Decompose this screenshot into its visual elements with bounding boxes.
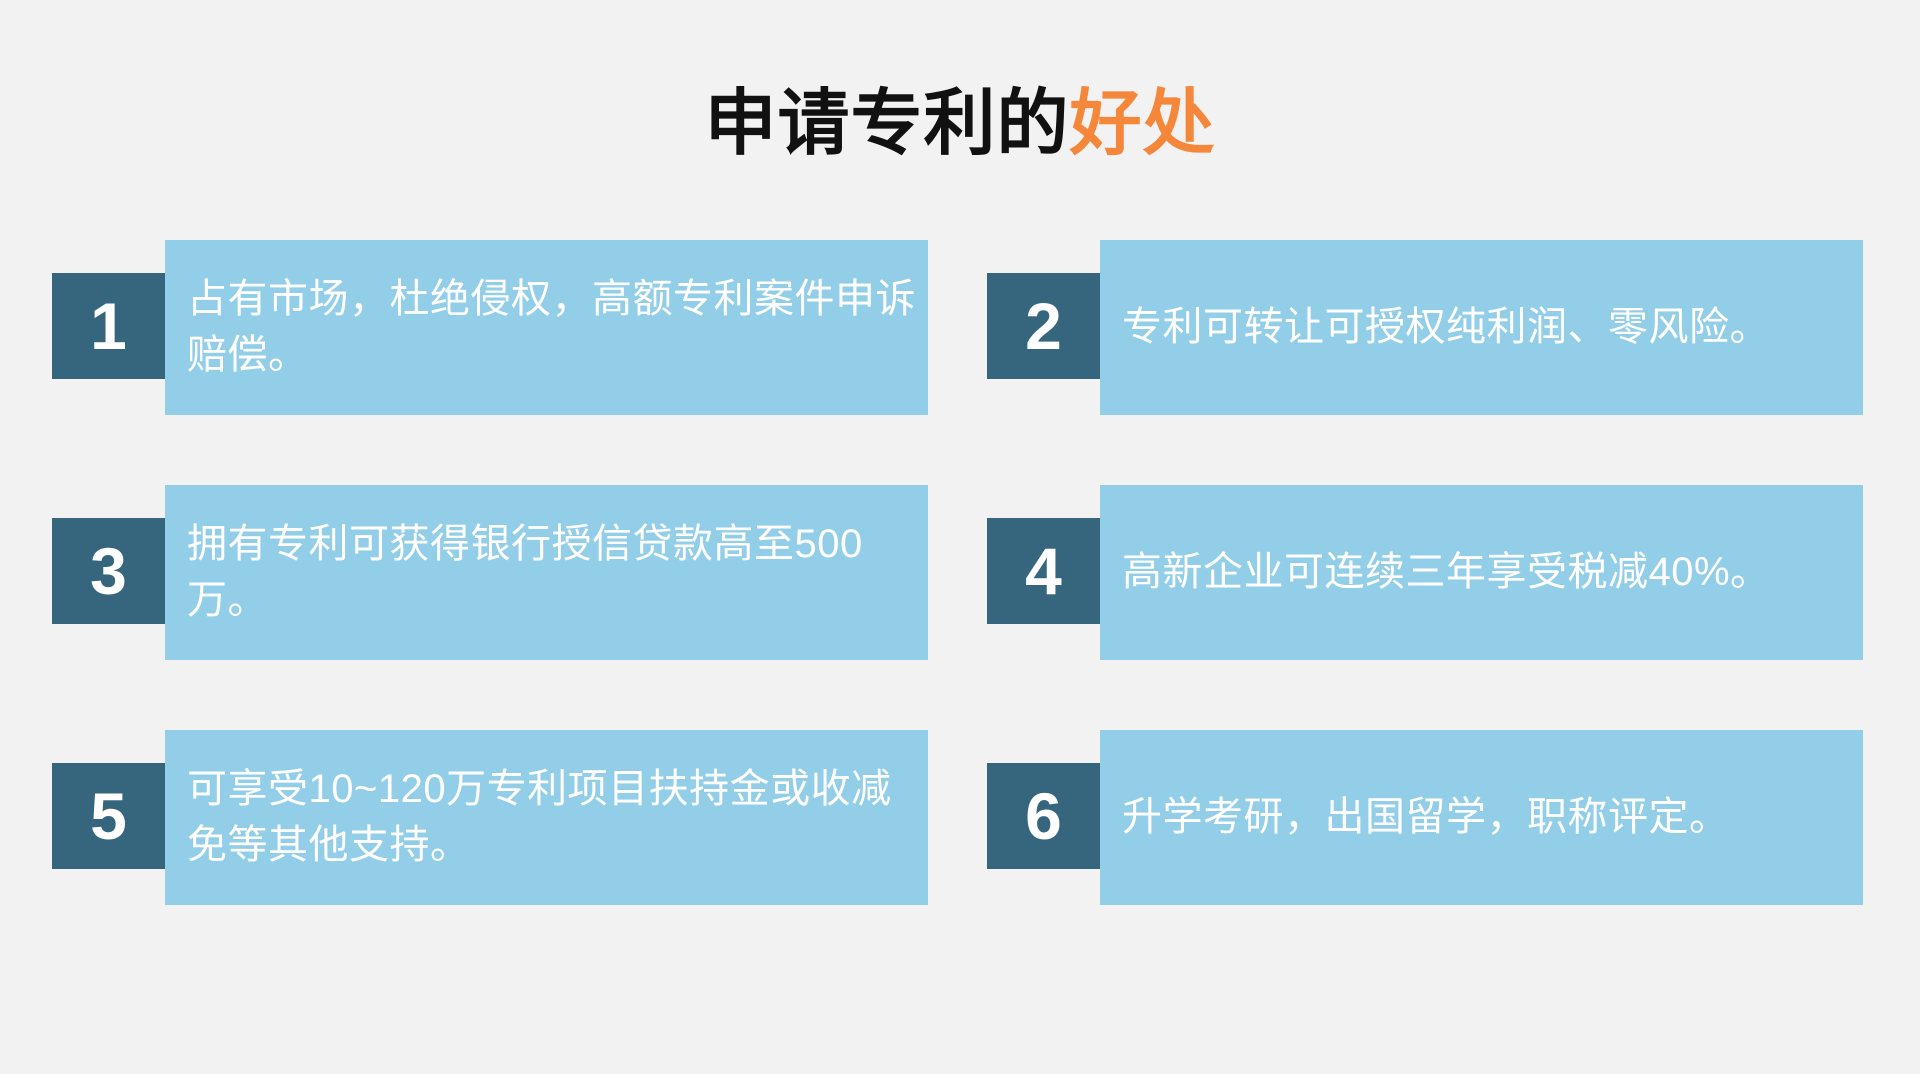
benefit-card-6-number: 6: [987, 763, 1100, 869]
benefit-card-4-number: 4: [987, 518, 1100, 624]
benefit-card-3-text: 拥有专利可获得银行授信贷款高至500万。: [187, 517, 922, 627]
benefit-card-1[interactable]: 占有市场，杜绝侵权，高额专利案件申诉赔偿。 1: [52, 240, 928, 415]
benefit-card-5-number: 5: [52, 763, 165, 869]
benefit-card-3-number: 3: [52, 518, 165, 624]
benefits-card-grid: 占有市场，杜绝侵权，高额专利案件申诉赔偿。 1 专利可转让可授权纯利润、零风险。…: [0, 240, 1920, 980]
benefit-card-5-text: 可享受10~120万专利项目扶持金或收减免等其他支持。: [187, 762, 922, 872]
benefit-card-2-text: 专利可转让可授权纯利润、零风险。: [1122, 300, 1770, 355]
benefit-card-5[interactable]: 可享受10~120万专利项目扶持金或收减免等其他支持。 5: [52, 730, 928, 905]
benefit-card-1-number: 1: [52, 273, 165, 379]
benefit-card-3-body: 拥有专利可获得银行授信贷款高至500万。: [165, 485, 928, 660]
page-title-main: 申请专利的: [704, 84, 1069, 164]
benefit-card-5-body: 可享受10~120万专利项目扶持金或收减免等其他支持。: [165, 730, 928, 905]
benefit-card-6-body: 升学考研，出国留学，职称评定。: [1100, 730, 1863, 905]
benefit-card-6-text: 升学考研，出国留学，职称评定。: [1122, 790, 1730, 845]
benefit-card-6[interactable]: 升学考研，出国留学，职称评定。 6: [987, 730, 1863, 905]
benefit-card-2-number: 2: [987, 273, 1100, 379]
benefit-card-1-body: 占有市场，杜绝侵权，高额专利案件申诉赔偿。: [165, 240, 928, 415]
benefit-card-3[interactable]: 拥有专利可获得银行授信贷款高至500万。 3: [52, 485, 928, 660]
page-title: 申请专利的好处: [0, 88, 1920, 160]
page-title-accent: 好处: [1070, 84, 1216, 164]
benefit-card-4[interactable]: 高新企业可连续三年享受税减40%。 4: [987, 485, 1863, 660]
benefit-card-4-body: 高新企业可连续三年享受税减40%。: [1100, 485, 1863, 660]
benefit-card-2-body: 专利可转让可授权纯利润、零风险。: [1100, 240, 1863, 415]
benefit-card-4-text: 高新企业可连续三年享受税减40%。: [1122, 545, 1771, 600]
benefit-card-2[interactable]: 专利可转让可授权纯利润、零风险。 2: [987, 240, 1863, 415]
benefit-card-1-text: 占有市场，杜绝侵权，高额专利案件申诉赔偿。: [187, 272, 922, 382]
